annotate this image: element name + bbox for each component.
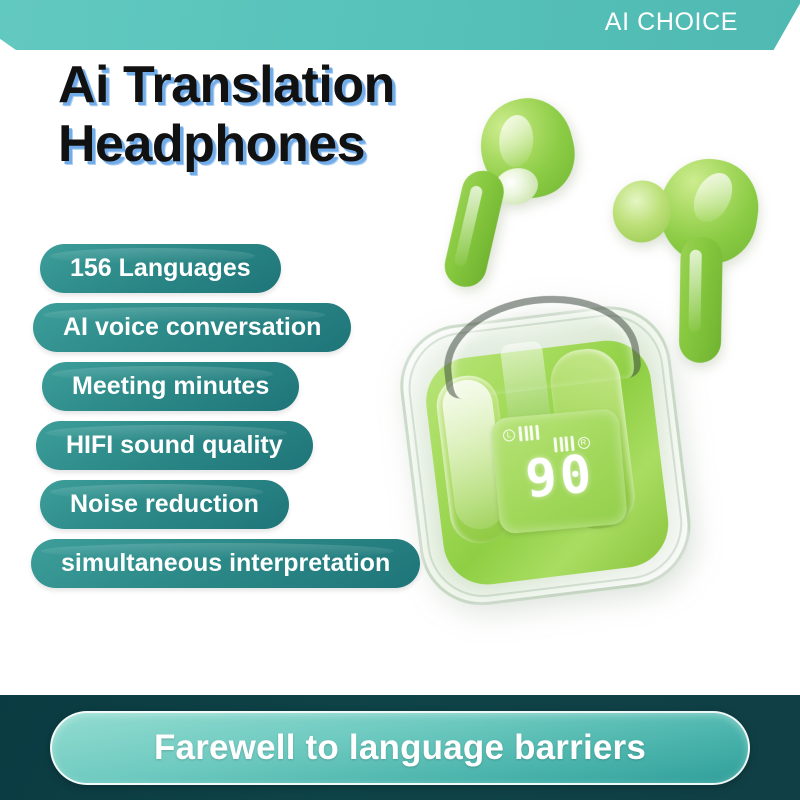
feature-row: AI voice conversation	[0, 303, 560, 362]
feature-row: Meeting minutes	[0, 362, 560, 421]
feature-pill-noise-reduction: Noise reduction	[40, 480, 289, 529]
top-banner-label: AI CHOICE	[605, 8, 738, 37]
feature-row: HIFI sound quality	[0, 421, 560, 480]
feature-pill-languages: 156 Languages	[40, 244, 281, 293]
feature-pill-meeting-minutes: Meeting minutes	[42, 362, 299, 411]
page-title: Ai Translation Headphones	[58, 56, 395, 174]
feature-row: simultaneous interpretation	[0, 539, 560, 598]
feature-row: Noise reduction	[0, 480, 560, 539]
title-line-2: Headphones	[58, 115, 395, 174]
slogan-text: Farewell to language barriers	[154, 728, 646, 768]
feature-row: 156 Languages	[0, 244, 560, 303]
bottom-banner: Farewell to language barriers	[0, 695, 800, 800]
feature-pill-simultaneous-interpretation: simultaneous interpretation	[31, 539, 420, 588]
feature-pill-ai-voice-conversation: AI voice conversation	[33, 303, 351, 352]
feature-pill-list: 156 Languages AI voice conversation Meet…	[0, 244, 560, 598]
product-advertisement-poster: AI CHOICE Ai Translation Headphones 156 …	[0, 0, 800, 800]
feature-pill-hifi-sound-quality: HIFI sound quality	[36, 421, 313, 470]
slogan-pill: Farewell to language barriers	[50, 711, 750, 785]
title-line-1: Ai Translation	[58, 56, 395, 115]
